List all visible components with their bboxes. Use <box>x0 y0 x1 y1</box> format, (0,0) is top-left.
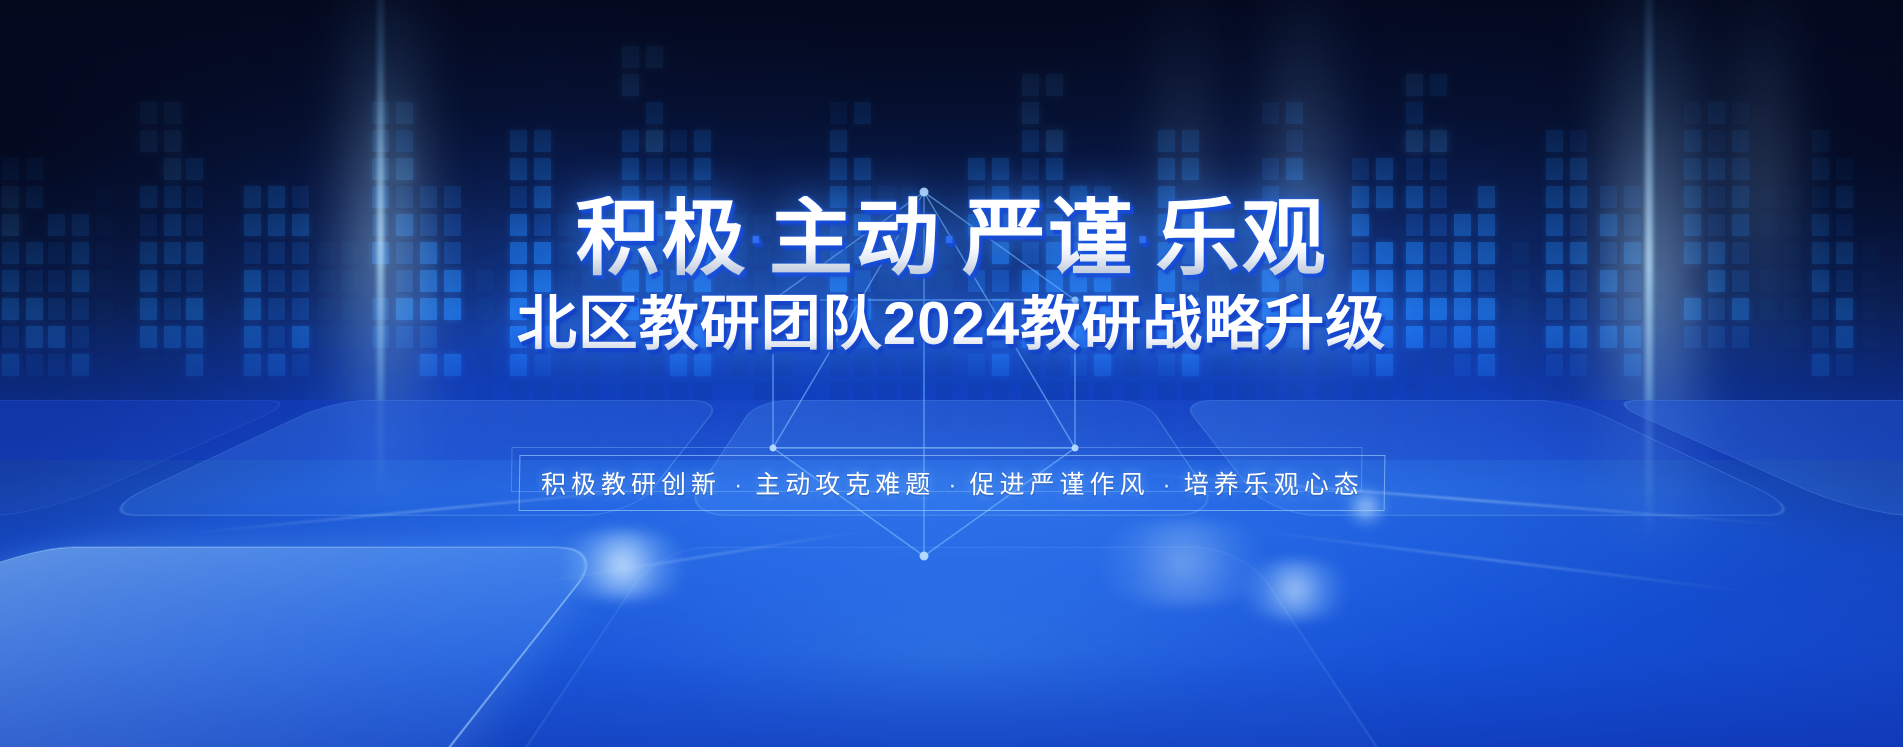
tagline-separator: · <box>934 471 968 499</box>
banner-root: 积极·主动·严谨·乐观 北区教研团队2024教研战略升级 积极教研创新 · 主动… <box>0 0 1903 747</box>
tagline-item: 促进严谨作风 <box>969 471 1149 499</box>
title-separator-dot: · <box>1136 216 1153 262</box>
tagline-item: 培养乐观心态 <box>1183 471 1363 499</box>
banner-subtitle: 北区教研团队2024教研战略升级 <box>517 294 1386 354</box>
title-word: 主动 <box>769 191 941 285</box>
tagline-item: 积极教研创新 <box>540 471 720 499</box>
tagline-separator: · <box>1149 471 1183 499</box>
title-word: 积极 <box>575 191 747 285</box>
title-separator-dot: · <box>749 216 766 262</box>
tagline-frame: 积极教研创新 · 主动攻克难题 · 促进严谨作风 · 培养乐观心态 <box>518 455 1385 511</box>
title-word: 乐观 <box>1156 191 1328 285</box>
banner-content: 积极·主动·严谨·乐观 北区教研团队2024教研战略升级 <box>0 0 1903 747</box>
banner-main-title: 积极·主动·严谨·乐观 <box>575 196 1327 280</box>
banner-tagline: 积极教研创新 · 主动攻克难题 · 促进严谨作风 · 培养乐观心态 <box>540 465 1363 501</box>
tagline-item: 主动攻克难题 <box>754 471 934 499</box>
tagline-separator: · <box>720 471 754 499</box>
title-separator-dot: · <box>943 216 960 262</box>
title-word: 严谨 <box>962 191 1134 285</box>
